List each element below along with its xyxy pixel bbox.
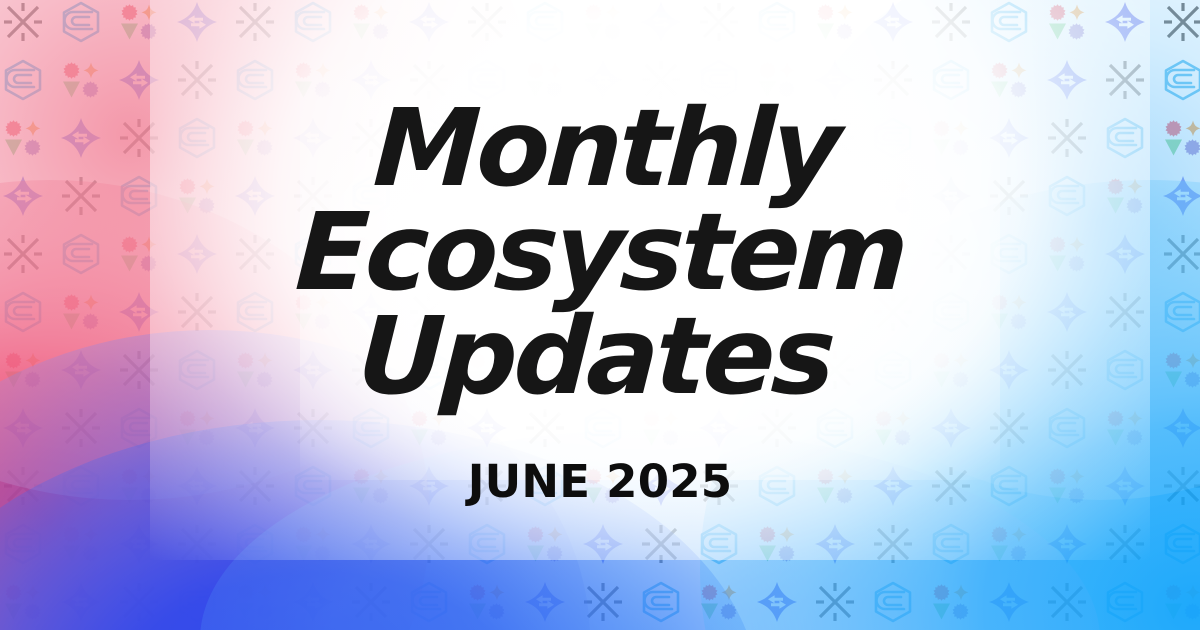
page-title: Monthly Ecosystem Updates (287, 98, 912, 409)
banner: Monthly Ecosystem Updates JUNE 2025 (0, 0, 1200, 630)
headline-line-2: Ecosystem (293, 202, 907, 306)
headline-line-3: Updates (287, 306, 901, 410)
subtitle-date: JUNE 2025 (468, 455, 733, 508)
headline-line-1: Monthly (298, 98, 912, 202)
banner-content: Monthly Ecosystem Updates JUNE 2025 (0, 0, 1200, 630)
